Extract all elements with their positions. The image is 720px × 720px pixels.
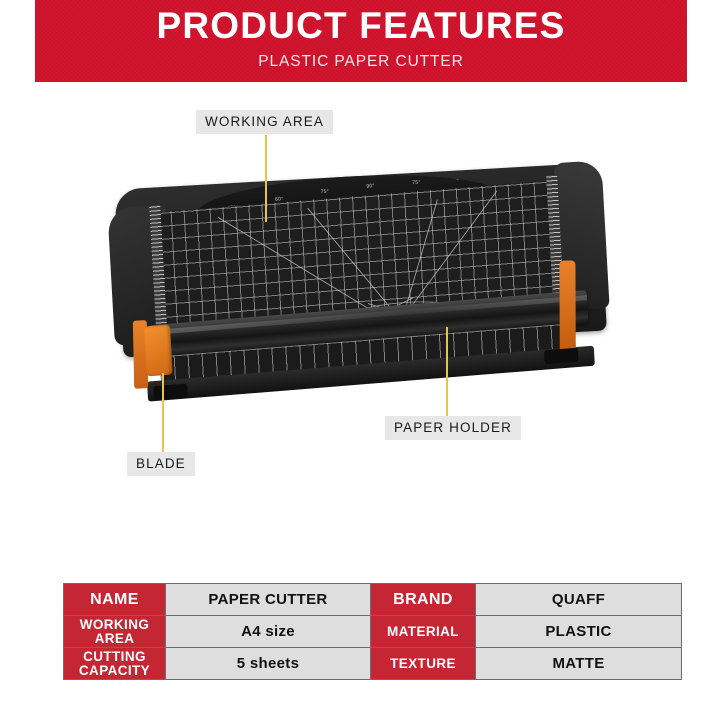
spec-value-cutting-capacity: 5 sheets bbox=[166, 648, 371, 680]
table-row: NAME PAPER CUTTER BRAND QUAFF bbox=[64, 584, 682, 616]
angle-mark-90: 90° bbox=[366, 183, 374, 189]
callout-label-paper-holder: PAPER HOLDER bbox=[385, 416, 521, 440]
blade-slider bbox=[144, 324, 173, 376]
callout-label-working-area: WORKING AREA bbox=[196, 110, 333, 134]
product-image: 45° 60° 75° 90° 75° 60° 45° bbox=[112, 168, 612, 403]
spec-value-texture: MATTE bbox=[476, 648, 682, 680]
spec-value-brand: QUAFF bbox=[476, 584, 682, 616]
spec-value-working-area: A4 size bbox=[166, 616, 371, 648]
table-row: WORKING AREA A4 size MATERIAL PLASTIC bbox=[64, 616, 682, 648]
callout-label-blade: BLADE bbox=[127, 452, 195, 476]
table-row: CUTTING CAPACITY 5 sheets TEXTURE MATTE bbox=[64, 648, 682, 680]
angle-mark-45-right: 45° bbox=[488, 171, 496, 177]
orange-right-edge bbox=[559, 261, 575, 357]
header-banner: PRODUCT FEATURES PLASTIC PAPER CUTTER bbox=[35, 0, 687, 82]
spec-key-cutting-capacity: CUTTING CAPACITY bbox=[64, 648, 166, 680]
product-image-inner: 45° 60° 75° 90° 75° 60° 45° bbox=[106, 154, 618, 417]
angle-mark-75-right: 75° bbox=[412, 180, 420, 186]
spec-key-material: MATERIAL bbox=[371, 616, 476, 648]
callout-line-paper-holder bbox=[446, 327, 448, 416]
spec-key-name: NAME bbox=[64, 584, 166, 616]
spec-key-working-area: WORKING AREA bbox=[64, 616, 166, 648]
angle-mark-75-left: 75° bbox=[321, 189, 329, 195]
spec-table: NAME PAPER CUTTER BRAND QUAFF WORKING AR… bbox=[63, 583, 682, 680]
foot-left bbox=[153, 383, 188, 400]
spec-key-texture: TEXTURE bbox=[371, 648, 476, 680]
callout-line-working-area bbox=[265, 135, 267, 222]
page-title: PRODUCT FEATURES bbox=[156, 7, 565, 46]
callout-line-blade bbox=[162, 373, 164, 452]
page-subtitle: PLASTIC PAPER CUTTER bbox=[258, 53, 463, 71]
angle-mark-60-right: 60° bbox=[456, 175, 464, 181]
spec-table-body: NAME PAPER CUTTER BRAND QUAFF WORKING AR… bbox=[64, 584, 682, 680]
foot-right bbox=[544, 348, 579, 365]
spec-value-name: PAPER CUTTER bbox=[166, 584, 371, 616]
spec-key-brand: BRAND bbox=[371, 584, 476, 616]
spec-value-material: PLASTIC bbox=[476, 616, 682, 648]
